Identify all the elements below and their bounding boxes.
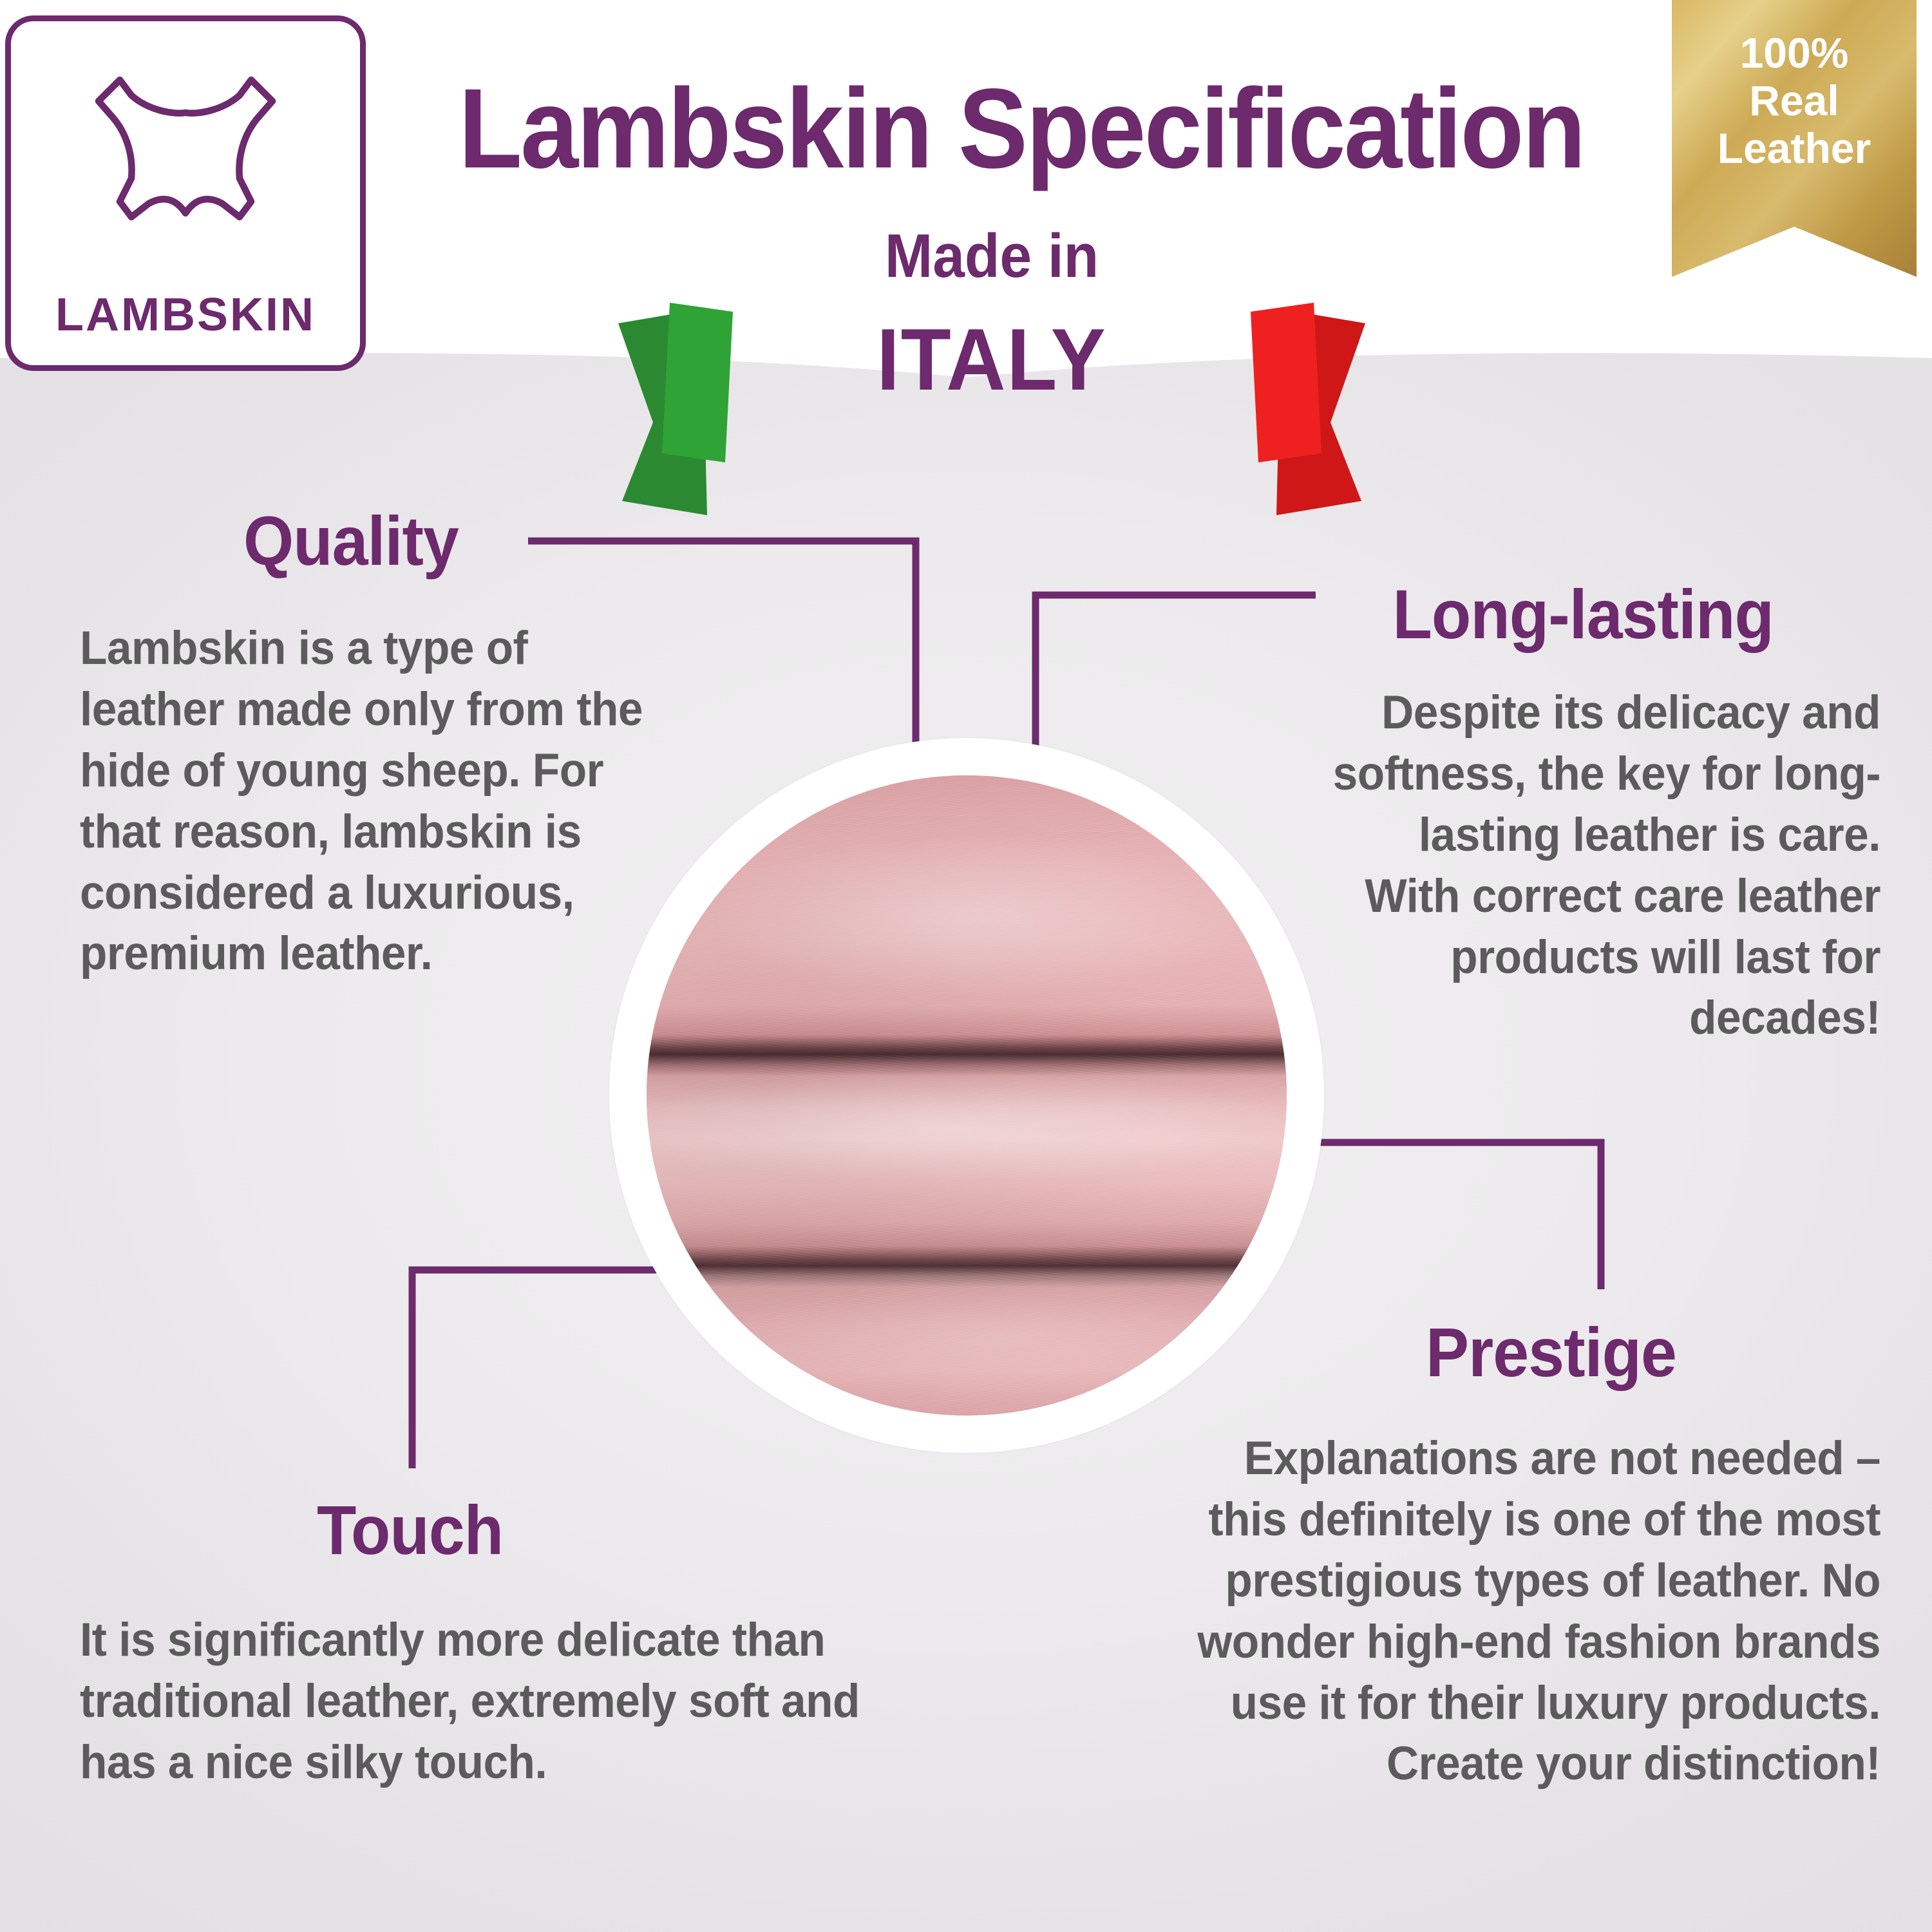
- section-heading-touch: Touch: [317, 1495, 503, 1565]
- leather-photo: [647, 775, 1287, 1416]
- leather-sheen: [647, 775, 1287, 1416]
- section-body-touch: It is significantly more delicate than t…: [80, 1610, 875, 1794]
- section-body-longlasting: Despite its delicacy and softness, the k…: [1312, 683, 1881, 1049]
- section-body-quality: Lambskin is a type of leather made only …: [80, 618, 643, 985]
- infographic-canvas: LAMBSKIN Lambskin Specification Made in …: [0, 0, 1932, 1932]
- leather-photo-circle: [609, 738, 1324, 1453]
- section-heading-prestige: Prestige: [1426, 1318, 1676, 1387]
- section-body-prestige: Explanations are not needed – this defin…: [1177, 1428, 1881, 1795]
- section-heading-quality: Quality: [243, 506, 459, 576]
- section-heading-longlasting: Long-lasting: [1393, 580, 1774, 649]
